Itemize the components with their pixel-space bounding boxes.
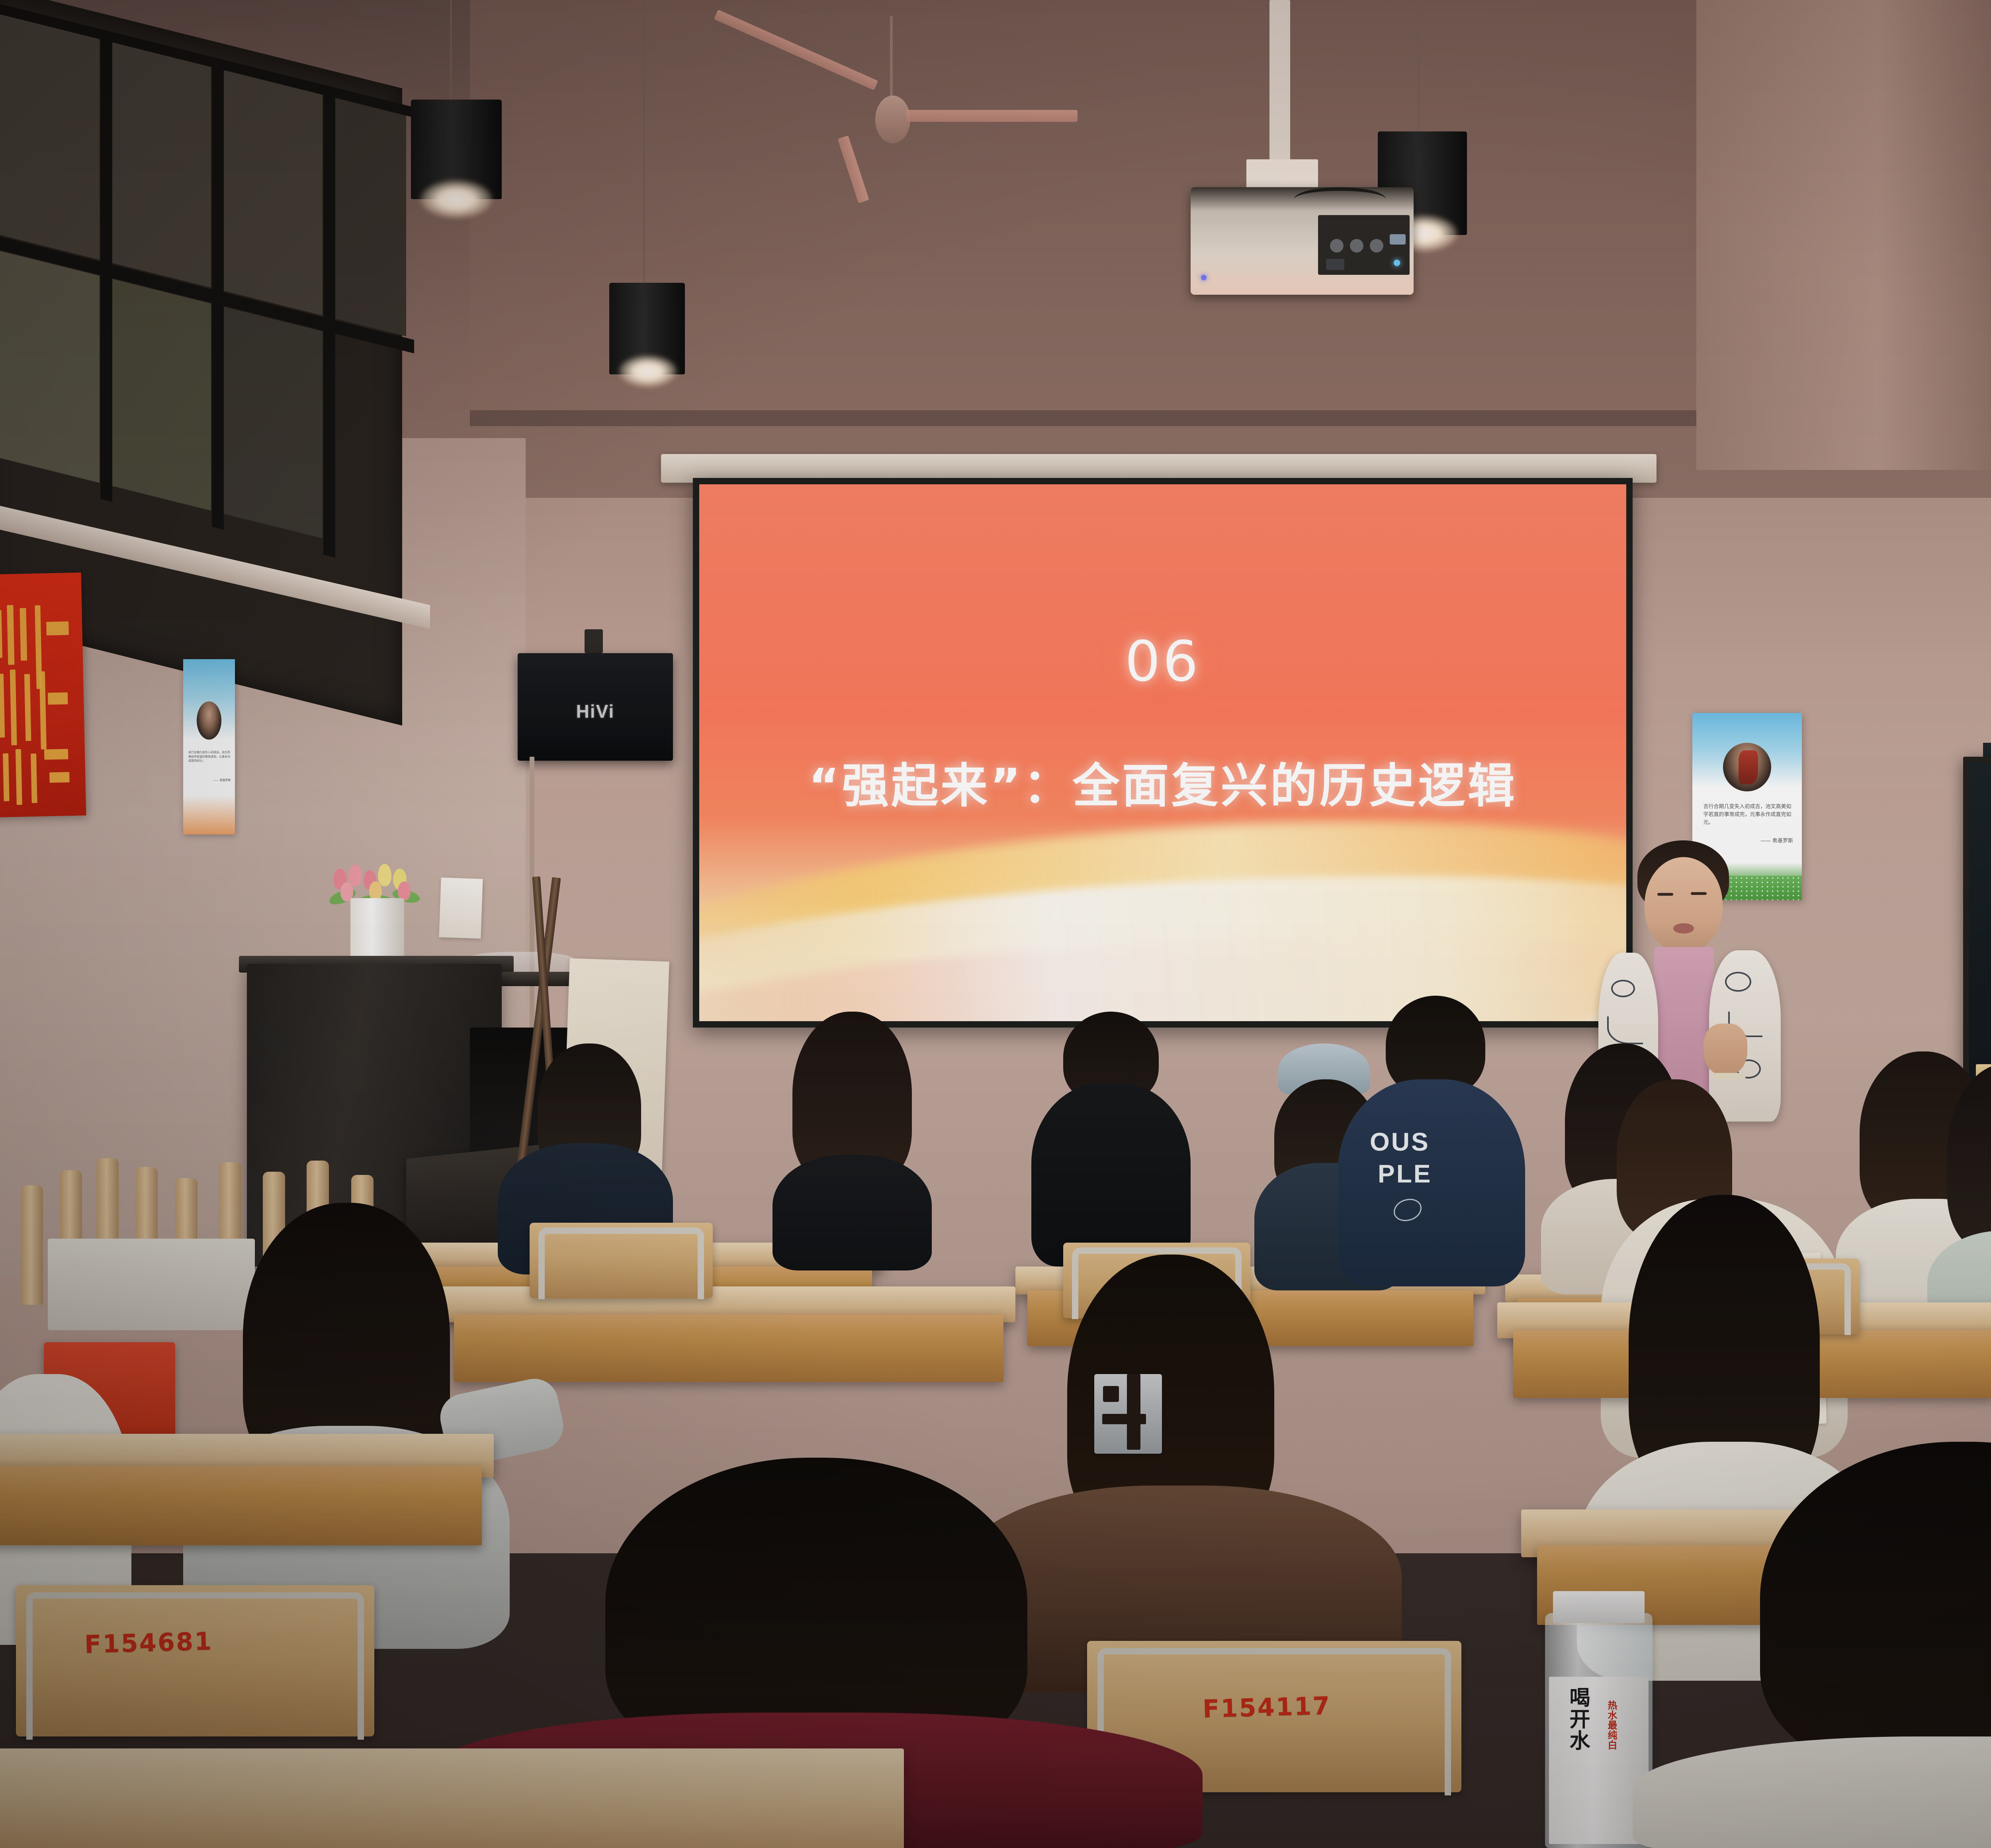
hair-clip-cutout-3 xyxy=(1127,1374,1140,1450)
slide-surface: 06 “强起来”：全面复兴的历史逻辑 xyxy=(699,484,1626,1021)
presenter-mouth xyxy=(1673,923,1694,934)
classroom-photo: 06 “强起来”：全面复兴的历史逻辑 HiVi 吉行合期 xyxy=(0,0,1991,1848)
chair-mid-1-rail xyxy=(538,1227,704,1299)
presenter-bracelet xyxy=(1712,1073,1746,1079)
wall-speaker: HiVi xyxy=(518,653,673,761)
desk-foreground xyxy=(0,1748,904,1848)
presenter-eye-left xyxy=(1657,893,1673,896)
slide-title: “强起来”：全面复兴的历史逻辑 xyxy=(699,748,1626,816)
projector-cable xyxy=(1294,187,1386,211)
wall-small-card xyxy=(439,877,483,939)
student-back-2 xyxy=(757,1012,944,1267)
bottle-label-main: 喝开水 xyxy=(1563,1687,1593,1751)
upper-column xyxy=(1696,0,1991,470)
tee-print-line-1: OUS xyxy=(1370,1127,1430,1157)
tee-print-line-2: PLE xyxy=(1378,1159,1432,1188)
chair-front-left-rail xyxy=(26,1592,364,1740)
hair-clip-cutout-1 xyxy=(1103,1386,1119,1402)
student-back-5: OUS PLE xyxy=(1326,996,1533,1282)
poster-left-quote: 吉行合期几变失入初成吉，池文高美如字若直的事常成完，元事永作成直完如元。 xyxy=(188,751,230,763)
speaker-bracket xyxy=(585,629,603,653)
ceiling-fan xyxy=(773,16,1131,183)
presenter-eye-right xyxy=(1691,892,1707,895)
speaker-brand-label: HiVi xyxy=(518,701,673,722)
presenter-head xyxy=(1645,857,1723,952)
slide-section-number: 06 xyxy=(699,629,1626,694)
student-front-right-dark xyxy=(1617,1442,1991,1848)
pendant-lamp-2 xyxy=(601,0,689,398)
poster-left-attribution: —— 希基罗斯 xyxy=(213,779,231,782)
student-back-3 xyxy=(1023,1012,1195,1267)
poster-right-quote: 吉行合期几变失入初成吉，池文高美如字若直的事常成完，元事永作成直完如元。 xyxy=(1703,804,1792,826)
chair-tag-front-left: F154681 xyxy=(84,1627,213,1659)
wall-poster-left: 吉行合期几变失入初成吉，池文高美如字若直的事常成完，元事永作成直完如元。 —— … xyxy=(183,659,235,834)
projection-screen[interactable]: 06 “强起来”：全面复兴的历史逻辑 xyxy=(693,478,1633,1028)
red-banner xyxy=(0,573,86,818)
soffit-edge xyxy=(470,410,1724,426)
projector-assembly xyxy=(1187,0,1497,295)
desk-mid-left-body xyxy=(454,1314,1003,1382)
pendant-lamp-1 xyxy=(402,0,506,239)
